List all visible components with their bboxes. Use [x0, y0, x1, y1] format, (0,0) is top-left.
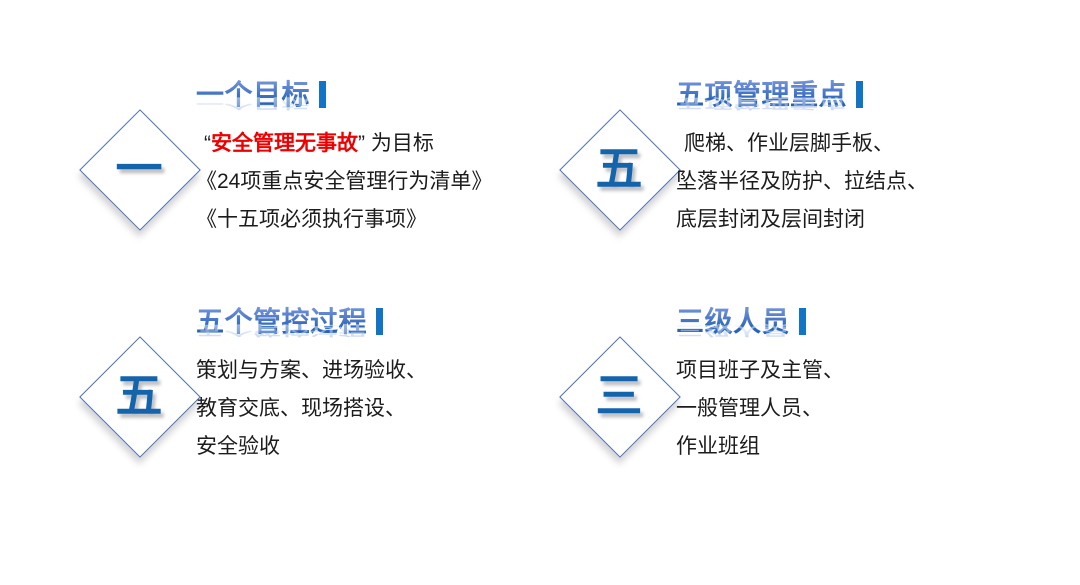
body-lines-five-control-processes: 策划与方案、进场验收、 教育交底、现场搭设、 安全验收	[196, 352, 536, 466]
block-heading: 五项管理重点	[676, 78, 847, 112]
heading-accent-bar	[319, 81, 326, 108]
heading-accent-bar	[856, 81, 863, 108]
diamond-badge-five-process: 五	[78, 335, 200, 457]
badge-glyph-label: 五	[78, 335, 200, 457]
diamond-badge-three: 三	[558, 335, 680, 457]
badge-glyph-label: 一	[78, 108, 200, 230]
heading-row-five-control-processes: 五个管控过程 五个管控过程	[196, 305, 383, 351]
badge-glyph-label: 五	[558, 108, 680, 230]
heading-wrap: 三级人员 三级人员	[676, 305, 790, 339]
heading-accent-bar	[376, 308, 383, 335]
body-line: 一般管理人员、	[676, 390, 1016, 428]
heading-row-three-level-personnel: 三级人员 三级人员	[676, 305, 806, 351]
block-heading: 一个目标	[196, 78, 310, 112]
body-line: “安全管理无事故” 为目标	[196, 125, 536, 163]
body-line: 作业班组	[676, 428, 1016, 466]
slide-canvas: 一 一个目标 一个目标 “安全管理无事故” 为目标 《24项重点安全管理行为清单…	[0, 0, 1080, 585]
body-line: 爬梯、作业层脚手板、	[676, 125, 1016, 163]
heading-row-five-key-points: 五项管理重点 五项管理重点	[676, 78, 863, 124]
body-lines-five-key-points: 爬梯、作业层脚手板、 坠落半径及防护、拉结点、 底层封闭及层间封闭	[676, 125, 1016, 239]
heading-wrap: 五个管控过程 五个管控过程	[196, 305, 367, 339]
heading-wrap: 五项管理重点 五项管理重点	[676, 78, 847, 112]
heading-wrap: 一个目标 一个目标	[196, 78, 310, 112]
highlight-text: 安全管理无事故	[211, 132, 358, 155]
diamond-badge-five: 五	[558, 108, 680, 230]
body-line: 策划与方案、进场验收、	[196, 352, 536, 390]
badge-glyph-label: 三	[558, 335, 680, 457]
body-line: 坠落半径及防护、拉结点、	[676, 163, 1016, 201]
block-heading: 五个管控过程	[196, 305, 367, 339]
heading-row-one-goal: 一个目标 一个目标	[196, 78, 326, 124]
body-line: 《十五项必须执行事项》	[196, 201, 536, 239]
body-line: 底层封闭及层间封闭	[676, 201, 1016, 239]
heading-accent-bar	[799, 308, 806, 335]
body-line: 安全验收	[196, 428, 536, 466]
body-lines-three-level-personnel: 项目班子及主管、 一般管理人员、 作业班组	[676, 352, 1016, 466]
block-heading: 三级人员	[676, 305, 790, 339]
body-line: 教育交底、现场搭设、	[196, 390, 536, 428]
line-suffix: ” 为目标	[358, 132, 434, 155]
body-lines-one-goal: “安全管理无事故” 为目标 《24项重点安全管理行为清单》 《十五项必须执行事项…	[196, 125, 536, 239]
diamond-badge-one: 一	[78, 108, 200, 230]
body-line: 项目班子及主管、	[676, 352, 1016, 390]
quote-open: “	[204, 132, 211, 155]
body-line: 《24项重点安全管理行为清单》	[196, 163, 536, 201]
